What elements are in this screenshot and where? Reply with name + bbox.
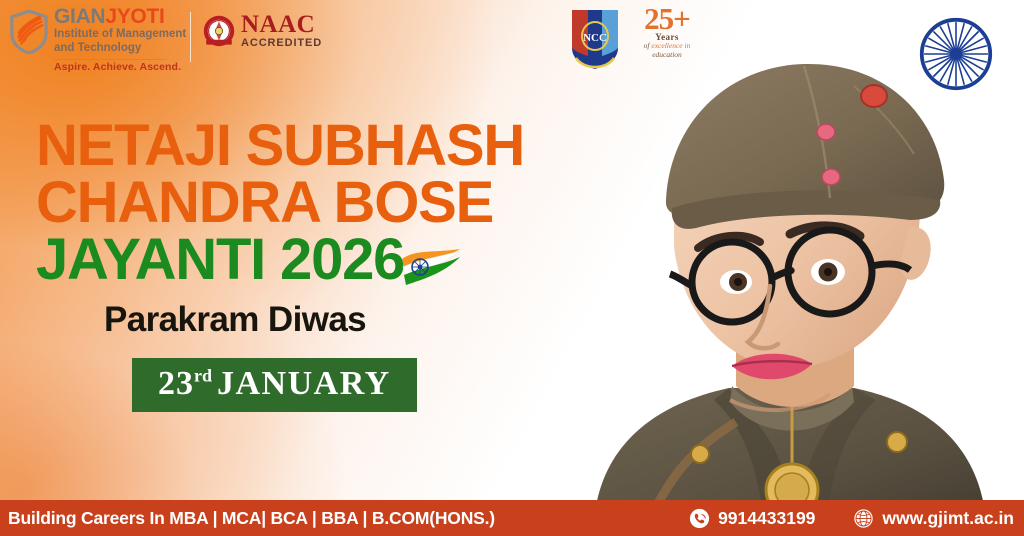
footer-website-group[interactable]: www.gjimt.ac.in [853,508,1014,529]
brand-name-part1: GIAN [54,5,105,28]
indian-flag-waving-icon [400,247,462,287]
brand-name: GIANJYOTI [54,6,186,27]
poster-canvas: GIANJYOTI Institute of Management and Te… [0,0,1024,536]
footer-courses: Building Careers In MBA | MCA| BCA | BBA… [8,508,495,529]
page-title: NETAJI SUBHASH CHANDRA BOSE JAYANTI 2026 [36,118,606,288]
footer-website-url: www.gjimt.ac.in [882,508,1014,529]
anniversary-number: 25+ [636,6,698,33]
naac-status: ACCREDITED [241,38,322,49]
netaji-subhash-chandra-bose-portrait [554,50,1024,520]
date-day: 23 [158,365,194,402]
title-line-1: NETAJI SUBHASH [36,118,606,175]
date-ordinal: rd [194,366,212,386]
brand-name-part2: JYOTI [105,5,164,28]
brand-subtitle: Institute of Management and Technology [54,28,186,55]
poster-copy: NETAJI SUBHASH CHANDRA BOSE JAYANTI 2026… [36,118,606,412]
anniversary-caption-emphasis: excellence in [651,41,690,50]
header-divider [190,12,191,62]
svg-text:NCC: NCC [583,32,607,44]
naac-accreditation: NAAC ACCREDITED [203,12,322,49]
title-line-2: CHANDRA BOSE [36,175,606,232]
title-line-3: JAYANTI 2026 [36,227,404,292]
phone-icon [689,508,710,529]
globe-icon [853,508,874,529]
brand-divider [54,59,166,60]
date-month: JANUARY [217,365,391,402]
footer-phone-number: 9914433199 [718,508,815,529]
date-badge: 23rdJANUARY [132,358,417,412]
footer-phone-group[interactable]: 9914433199 [689,508,815,529]
brand-subtitle-line2: and Technology [54,42,186,56]
title-line-3-wrapper: JAYANTI 2026 [36,232,606,289]
anniversary-caption-prefix: of [644,41,650,50]
brand-tagline: Aspire. Achieve. Ascend. [54,62,186,73]
naac-label: NAAC [241,12,322,37]
gianjyoti-shield-flame-icon [10,10,48,54]
page-subtitle: Parakram Diwas [104,300,606,340]
brand-logo[interactable]: GIANJYOTI Institute of Management and Te… [10,6,186,72]
footer-bar: Building Careers In MBA | MCA| BCA | BBA… [0,500,1024,536]
footer-contact: 9914433199 www.gjimt.ac.in [689,508,1024,529]
naac-seal-icon [203,15,235,47]
brand-subtitle-line1: Institute of Management [54,28,186,42]
